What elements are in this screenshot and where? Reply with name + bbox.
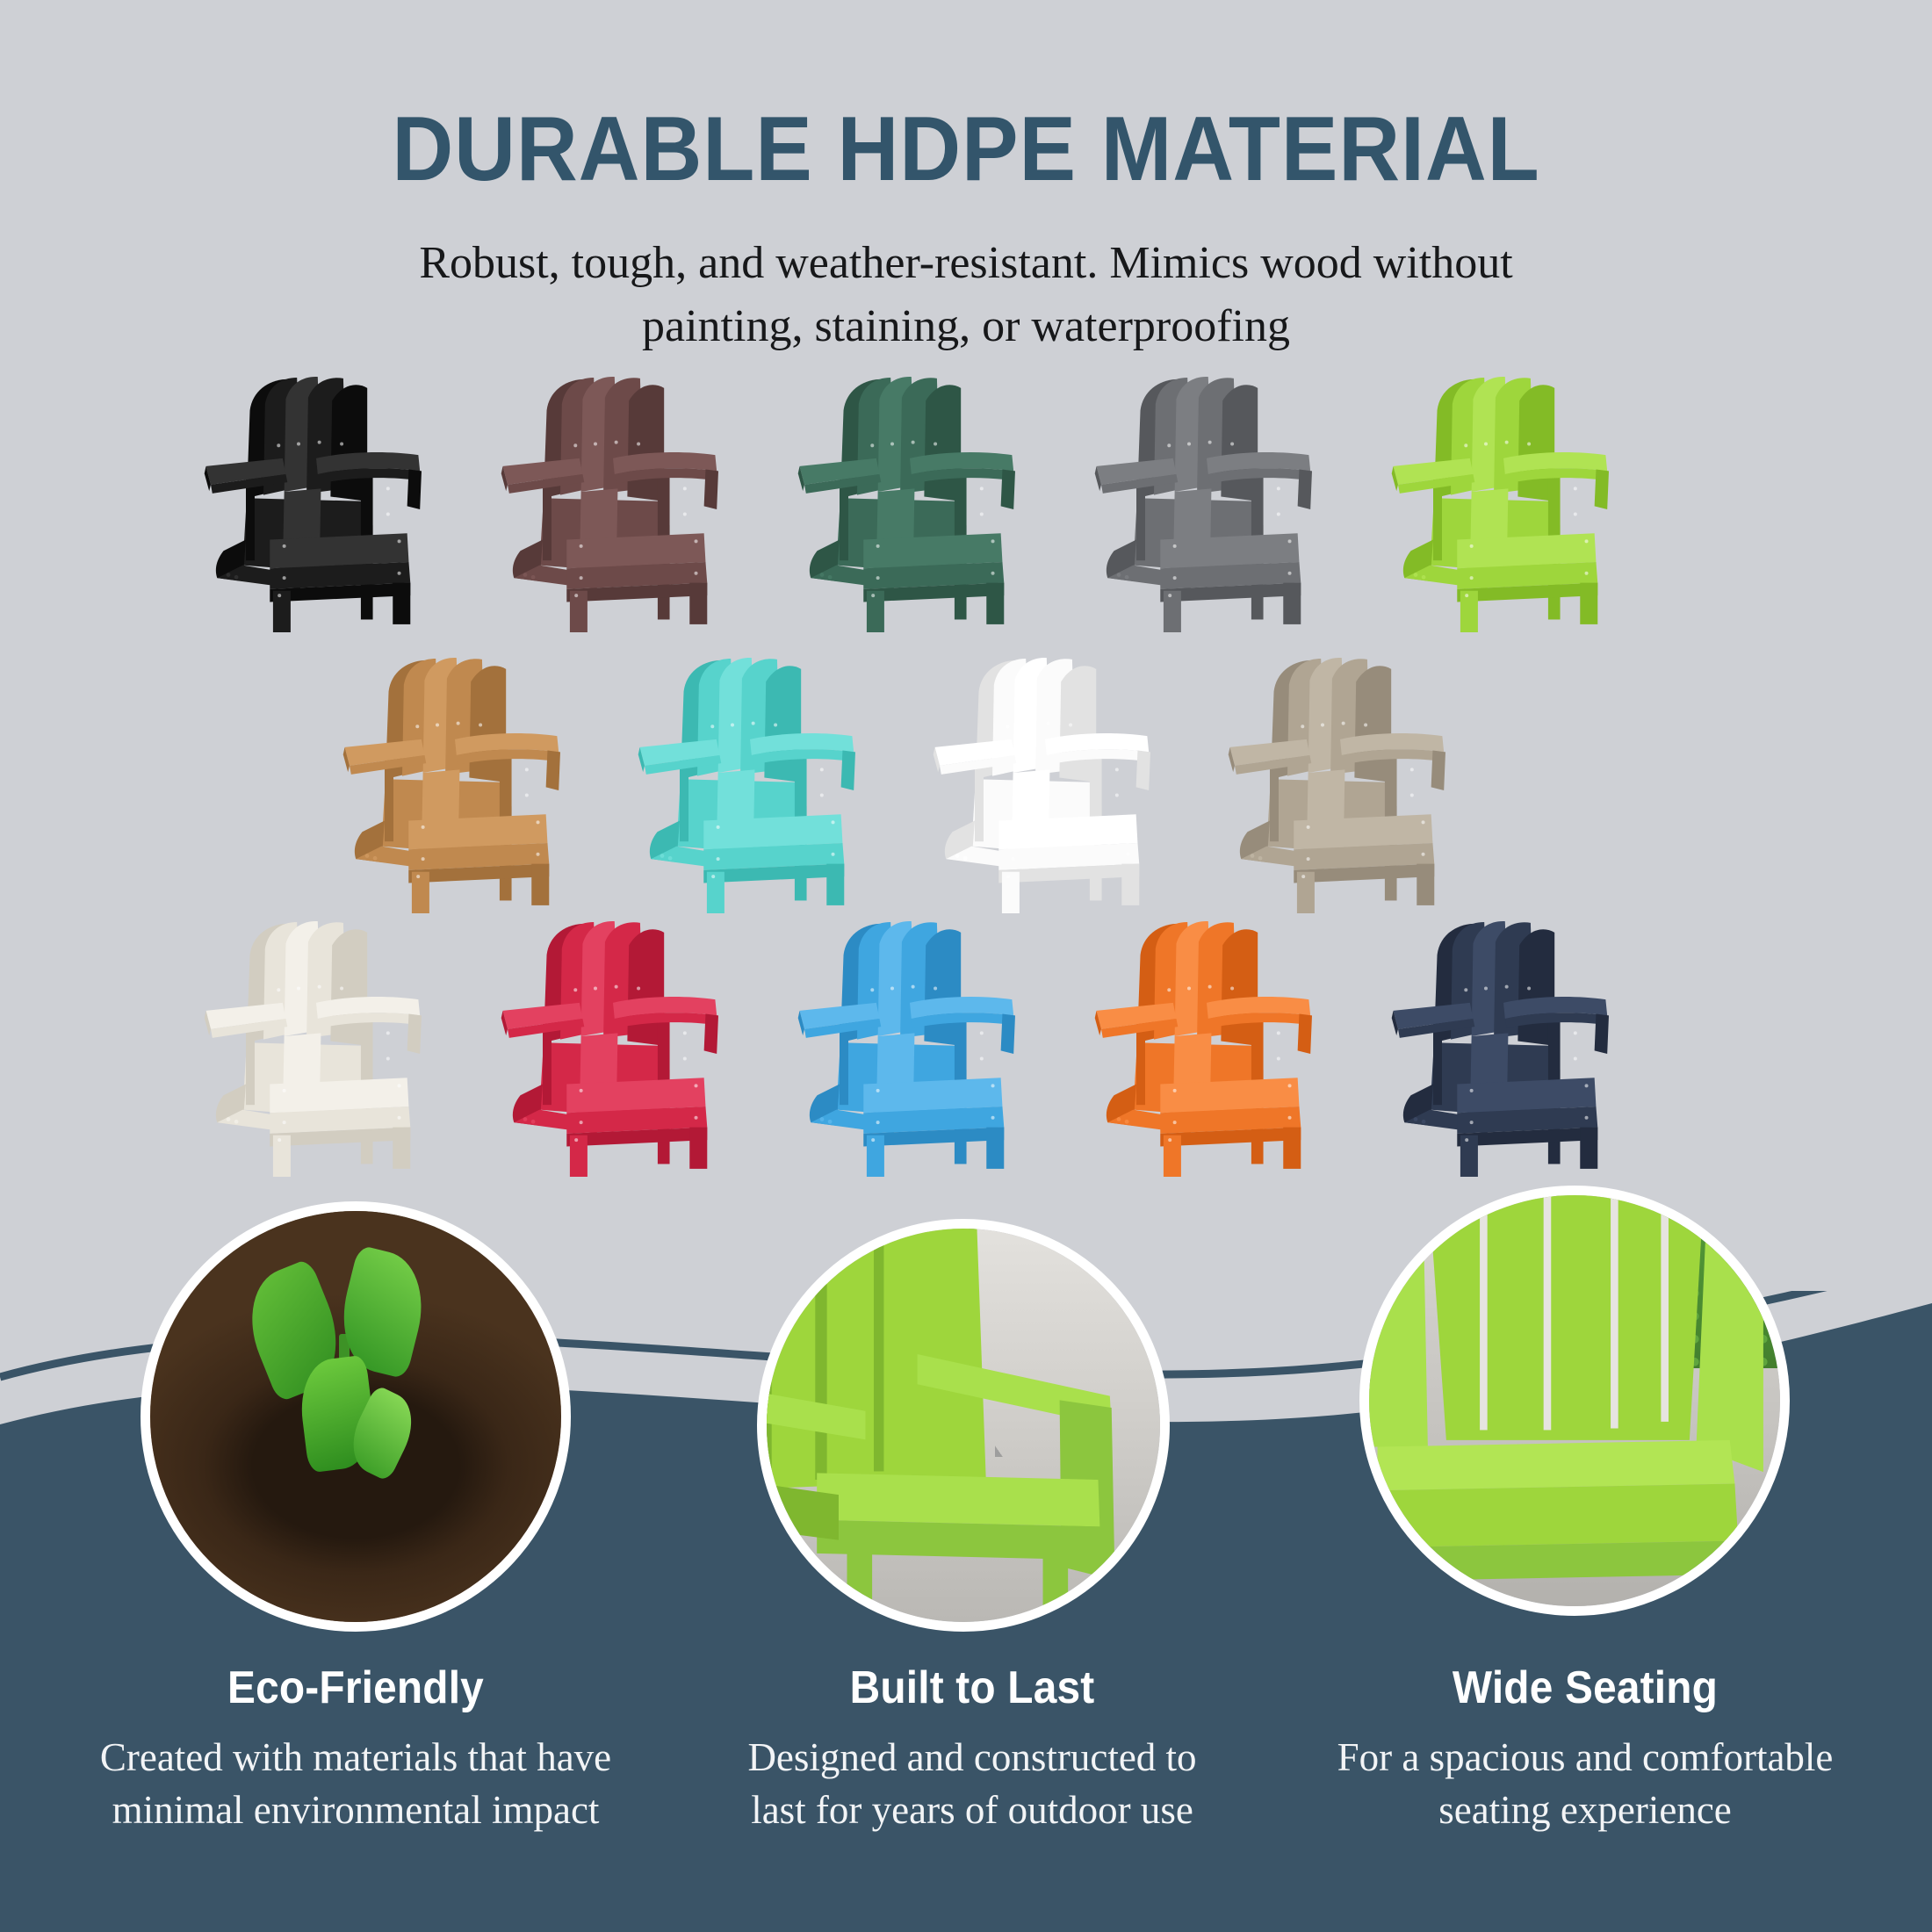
wide-seat-photo-illustration [1369, 1195, 1780, 1606]
patio-photo [767, 1229, 1160, 1622]
feature-title: Built to Last [677, 1662, 1267, 1714]
patio-closeup-photo [1369, 1195, 1780, 1606]
feature-description: Created with materials that have minimal… [35, 1732, 676, 1837]
feature-caption-built-to-last: Built to Last Designed and constructed t… [652, 1662, 1293, 1837]
soil-seedling-photo [150, 1211, 561, 1622]
infographic-canvas: DURABLE HDPE MATERIAL Robust, tough, and… [0, 0, 1932, 1932]
feature-desc-line-2: last for years of outdoor use [751, 1788, 1193, 1832]
feature-title: Wide Seating [1290, 1662, 1880, 1714]
feature-desc-line-2: minimal environmental impact [112, 1788, 600, 1832]
feature-image-wide-seating [1359, 1186, 1790, 1616]
feature-caption-eco-friendly: Eco-Friendly Created with materials that… [35, 1662, 676, 1837]
feature-desc-line-1: Created with materials that have [100, 1735, 611, 1779]
lime-chair-photo-illustration [767, 1229, 1160, 1622]
feature-circles [0, 0, 1932, 1932]
feature-desc-line-1: For a spacious and comfortable [1337, 1735, 1834, 1779]
feature-caption-wide-seating: Wide Seating For a spacious and comforta… [1265, 1662, 1906, 1837]
feature-desc-line-2: seating experience [1438, 1788, 1732, 1832]
feature-desc-line-1: Designed and constructed to [747, 1735, 1196, 1779]
feature-image-eco-friendly [141, 1201, 571, 1632]
feature-description: Designed and constructed to last for yea… [652, 1732, 1293, 1837]
feature-description: For a spacious and comfortable seating e… [1265, 1732, 1906, 1837]
feature-image-built-to-last [757, 1219, 1170, 1632]
feature-title: Eco-Friendly [61, 1662, 651, 1714]
